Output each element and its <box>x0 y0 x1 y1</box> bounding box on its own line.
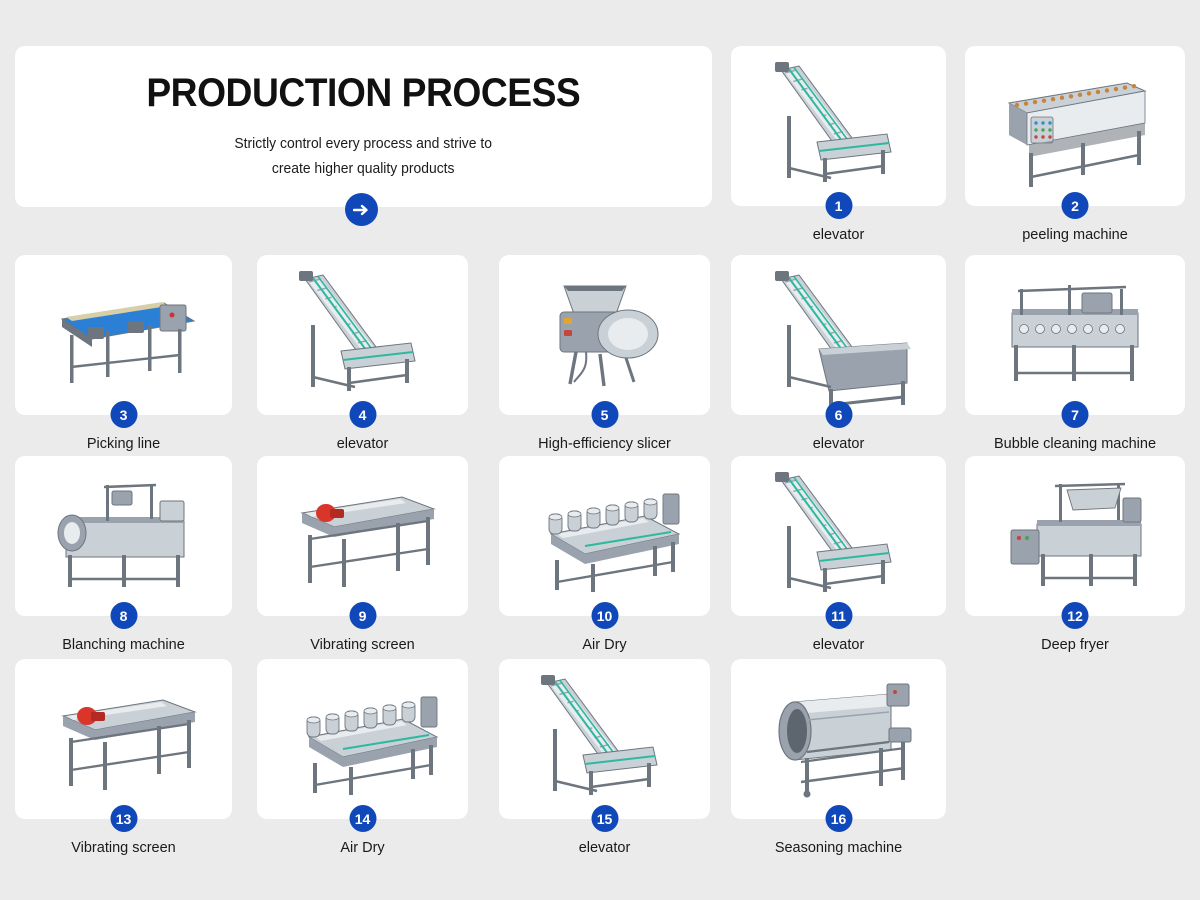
machine-photo-elevator <box>257 255 468 415</box>
step-number-badge: 10 <box>591 602 618 629</box>
step-number-badge: 5 <box>591 401 618 428</box>
machine-photo-elevator <box>731 456 946 616</box>
step-label: Blanching machine <box>62 637 185 653</box>
process-step-card[interactable] <box>965 255 1185 415</box>
step-number-badge: 12 <box>1062 602 1089 629</box>
step-label: elevator <box>813 436 865 452</box>
machine-photo-air-dry <box>499 456 710 616</box>
step-label: High-efficiency slicer <box>538 436 671 452</box>
process-step-card[interactable] <box>15 456 232 616</box>
page-subtitle: Strictly control every process and striv… <box>235 132 493 183</box>
machine-photo-bubble-cleaner <box>965 255 1185 415</box>
step-label: elevator <box>337 436 389 452</box>
step-label: Bubble cleaning machine <box>994 436 1156 452</box>
process-step-card[interactable] <box>499 659 710 819</box>
step-label: Seasoning machine <box>775 840 902 856</box>
step-number-badge: 3 <box>110 401 137 428</box>
step-number-badge: 11 <box>825 602 852 629</box>
step-number-badge: 4 <box>349 401 376 428</box>
production-process-infographic: PRODUCTION PROCESS Strictly control ever… <box>0 0 1200 900</box>
step-label: elevator <box>579 840 631 856</box>
step-number-badge: 9 <box>349 602 376 629</box>
step-number-badge: 6 <box>825 401 852 428</box>
title-card: PRODUCTION PROCESS Strictly control ever… <box>15 46 712 207</box>
process-step-card[interactable] <box>965 456 1185 616</box>
process-step-card[interactable] <box>731 659 946 819</box>
step-number-badge: 13 <box>110 805 137 832</box>
step-number-badge: 8 <box>110 602 137 629</box>
page-title: PRODUCTION PROCESS <box>147 71 581 116</box>
step-label: Vibrating screen <box>310 637 415 653</box>
machine-photo-vibrating-screen <box>15 659 232 819</box>
step-number-badge: 7 <box>1062 401 1089 428</box>
step-label: elevator <box>813 227 865 243</box>
process-step-card[interactable] <box>731 46 946 206</box>
machine-photo-elevator-tank <box>731 255 946 415</box>
process-step-card[interactable] <box>15 255 232 415</box>
machine-photo-slicer <box>499 255 710 415</box>
step-number-badge: 16 <box>825 805 852 832</box>
machine-photo-seasoning-drum <box>731 659 946 819</box>
step-number-badge: 14 <box>349 805 376 832</box>
arrow-right-icon[interactable] <box>345 193 378 226</box>
machine-photo-blancher <box>15 456 232 616</box>
step-number-badge: 15 <box>591 805 618 832</box>
process-step-card[interactable] <box>731 255 946 415</box>
process-step-card[interactable] <box>257 255 468 415</box>
machine-photo-elevator <box>499 659 710 819</box>
machine-photo-elevator <box>731 46 946 206</box>
step-number-badge: 1 <box>825 192 852 219</box>
machine-photo-picking-line <box>15 255 232 415</box>
step-label: elevator <box>813 637 865 653</box>
process-step-card[interactable] <box>965 46 1185 206</box>
process-step-card[interactable] <box>257 659 468 819</box>
machine-photo-fryer <box>965 456 1185 616</box>
process-step-card[interactable] <box>257 456 468 616</box>
machine-photo-vibrating-screen <box>257 456 468 616</box>
step-label: Picking line <box>87 436 160 452</box>
step-label: Air Dry <box>340 840 384 856</box>
step-label: Deep fryer <box>1041 637 1109 653</box>
step-label: peeling machine <box>1022 227 1128 243</box>
process-step-card[interactable] <box>499 255 710 415</box>
machine-photo-peeler <box>965 46 1185 206</box>
machine-photo-air-dry <box>257 659 468 819</box>
step-label: Air Dry <box>582 637 626 653</box>
process-step-card[interactable] <box>731 456 946 616</box>
step-number-badge: 2 <box>1062 192 1089 219</box>
subtitle-line-1: Strictly control every process and striv… <box>235 132 493 157</box>
subtitle-line-2: create higher quality products <box>235 157 493 182</box>
step-label: Vibrating screen <box>71 840 176 856</box>
process-step-card[interactable] <box>499 456 710 616</box>
process-step-card[interactable] <box>15 659 232 819</box>
